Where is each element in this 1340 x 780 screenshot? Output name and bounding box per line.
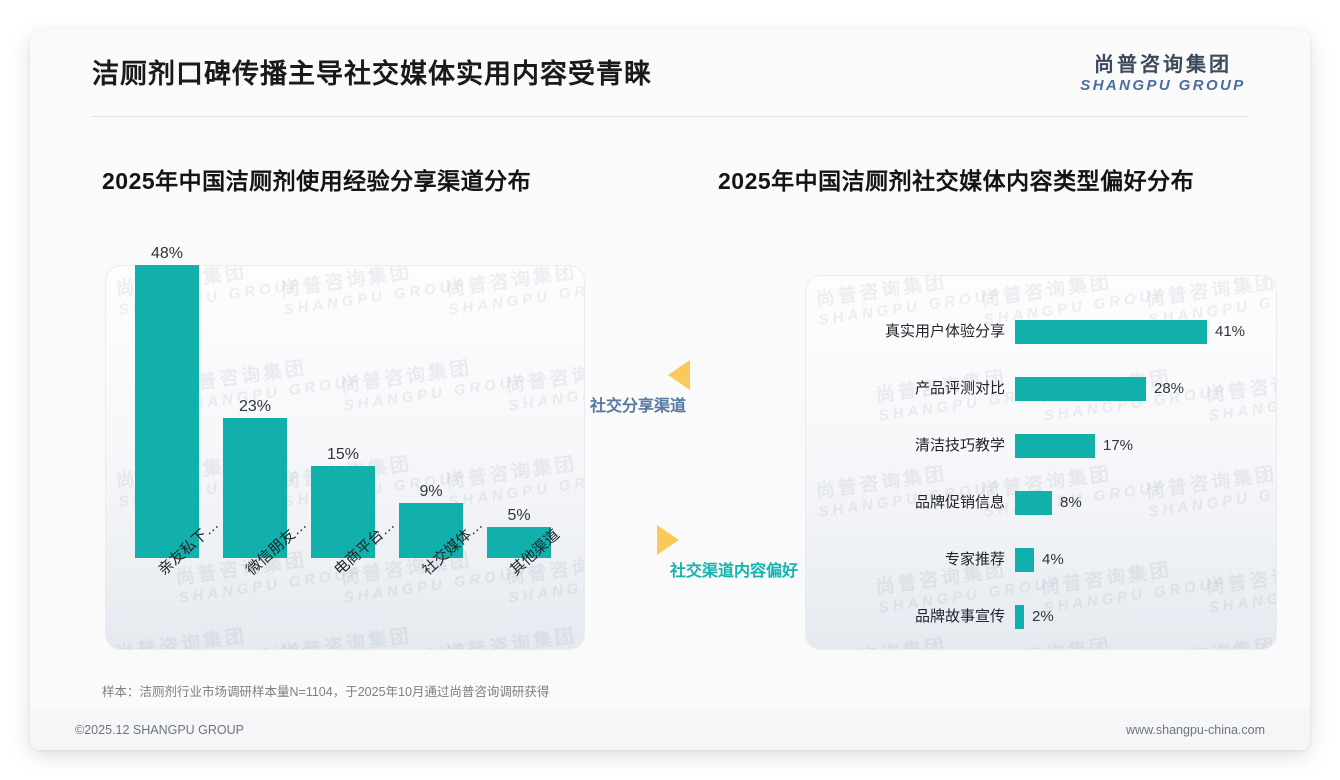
left-chart-title: 2025年中国洁厕剂使用经验分享渠道分布	[102, 162, 531, 196]
right-chart-title: 2025年中国洁厕剂社交媒体内容类型偏好分布	[718, 162, 1194, 196]
triangle-left-icon	[668, 360, 690, 390]
right-bar-chart: 真实用户体验分享41%产品评测对比28%清洁技巧教学17%品牌促销信息8%专家推…	[805, 275, 1275, 648]
source-footnote: 样本：洁厕剂行业市场调研样本量N=1104，于2025年10月通过尚普咨询调研获…	[102, 681, 549, 700]
slide-header: 洁厕剂口碑传播主导社交媒体实用内容受青睐 尚普咨询集团 SHANGPU GROU…	[30, 30, 1310, 116]
category-label: 品牌促销信息	[805, 486, 1005, 520]
horizontal-bar[interactable]	[1015, 377, 1146, 401]
logo-chinese-text: 尚普咨询集团	[1058, 54, 1268, 77]
category-label: 专家推荐	[805, 543, 1005, 577]
triangle-right-icon	[657, 525, 679, 555]
bar-value-label: 23%	[223, 398, 287, 416]
brand-logo: 尚普咨询集团 SHANGPU GROUP	[1058, 54, 1268, 95]
website-url[interactable]: www.shangpu-china.com	[1126, 723, 1265, 737]
horizontal-bar[interactable]	[1015, 320, 1207, 344]
annotation-a-label: 社交分享渠道	[590, 392, 686, 416]
logo-english-text: SHANGPU GROUP	[1058, 77, 1268, 95]
bar-value-label: 5%	[487, 507, 551, 525]
slide-card: 洁厕剂口碑传播主导社交媒体实用内容受青睐 尚普咨询集团 SHANGPU GROU…	[30, 30, 1310, 750]
page-title: 洁厕剂口碑传播主导社交媒体实用内容受青睐	[92, 52, 652, 91]
horizontal-bar[interactable]	[1015, 548, 1034, 572]
category-label: 清洁技巧教学	[805, 429, 1005, 463]
bar-row: 真实用户体验分享41%	[805, 315, 1275, 349]
bar-value-label: 2%	[1032, 600, 1054, 634]
horizontal-bar[interactable]	[1015, 434, 1095, 458]
header-divider	[92, 116, 1248, 117]
vertical-bar[interactable]	[135, 265, 199, 558]
bar-value-label: 17%	[1103, 429, 1133, 463]
bar-row: 品牌促销信息8%	[805, 486, 1275, 520]
bar-value-label: 4%	[1042, 543, 1064, 577]
category-label: 品牌故事宣传	[805, 600, 1005, 634]
bar-row: 专家推荐4%	[805, 543, 1275, 577]
bar-value-label: 8%	[1060, 486, 1082, 520]
horizontal-bar[interactable]	[1015, 605, 1024, 629]
left-bar-chart: 48%亲友私下…23%微信朋友…15%电商平台…9%社交媒体…5%其他渠道	[105, 265, 583, 648]
bar-value-label: 48%	[135, 245, 199, 263]
bar-value-label: 9%	[399, 483, 463, 501]
category-label: 产品评测对比	[805, 372, 1005, 406]
bar-row: 清洁技巧教学17%	[805, 429, 1275, 463]
category-label: 真实用户体验分享	[805, 315, 1005, 349]
slide-footer: ©2025.12 SHANGPU GROUP www.shangpu-china…	[30, 710, 1310, 750]
bar-value-label: 41%	[1215, 315, 1245, 349]
bar-row: 品牌故事宣传2%	[805, 600, 1275, 634]
horizontal-bar[interactable]	[1015, 491, 1052, 515]
bar-value-label: 28%	[1154, 372, 1184, 406]
annotation-b-label: 社交渠道内容偏好	[670, 557, 798, 581]
copyright-text: ©2025.12 SHANGPU GROUP	[75, 723, 244, 737]
bar-row: 产品评测对比28%	[805, 372, 1275, 406]
bar-value-label: 15%	[311, 446, 375, 464]
